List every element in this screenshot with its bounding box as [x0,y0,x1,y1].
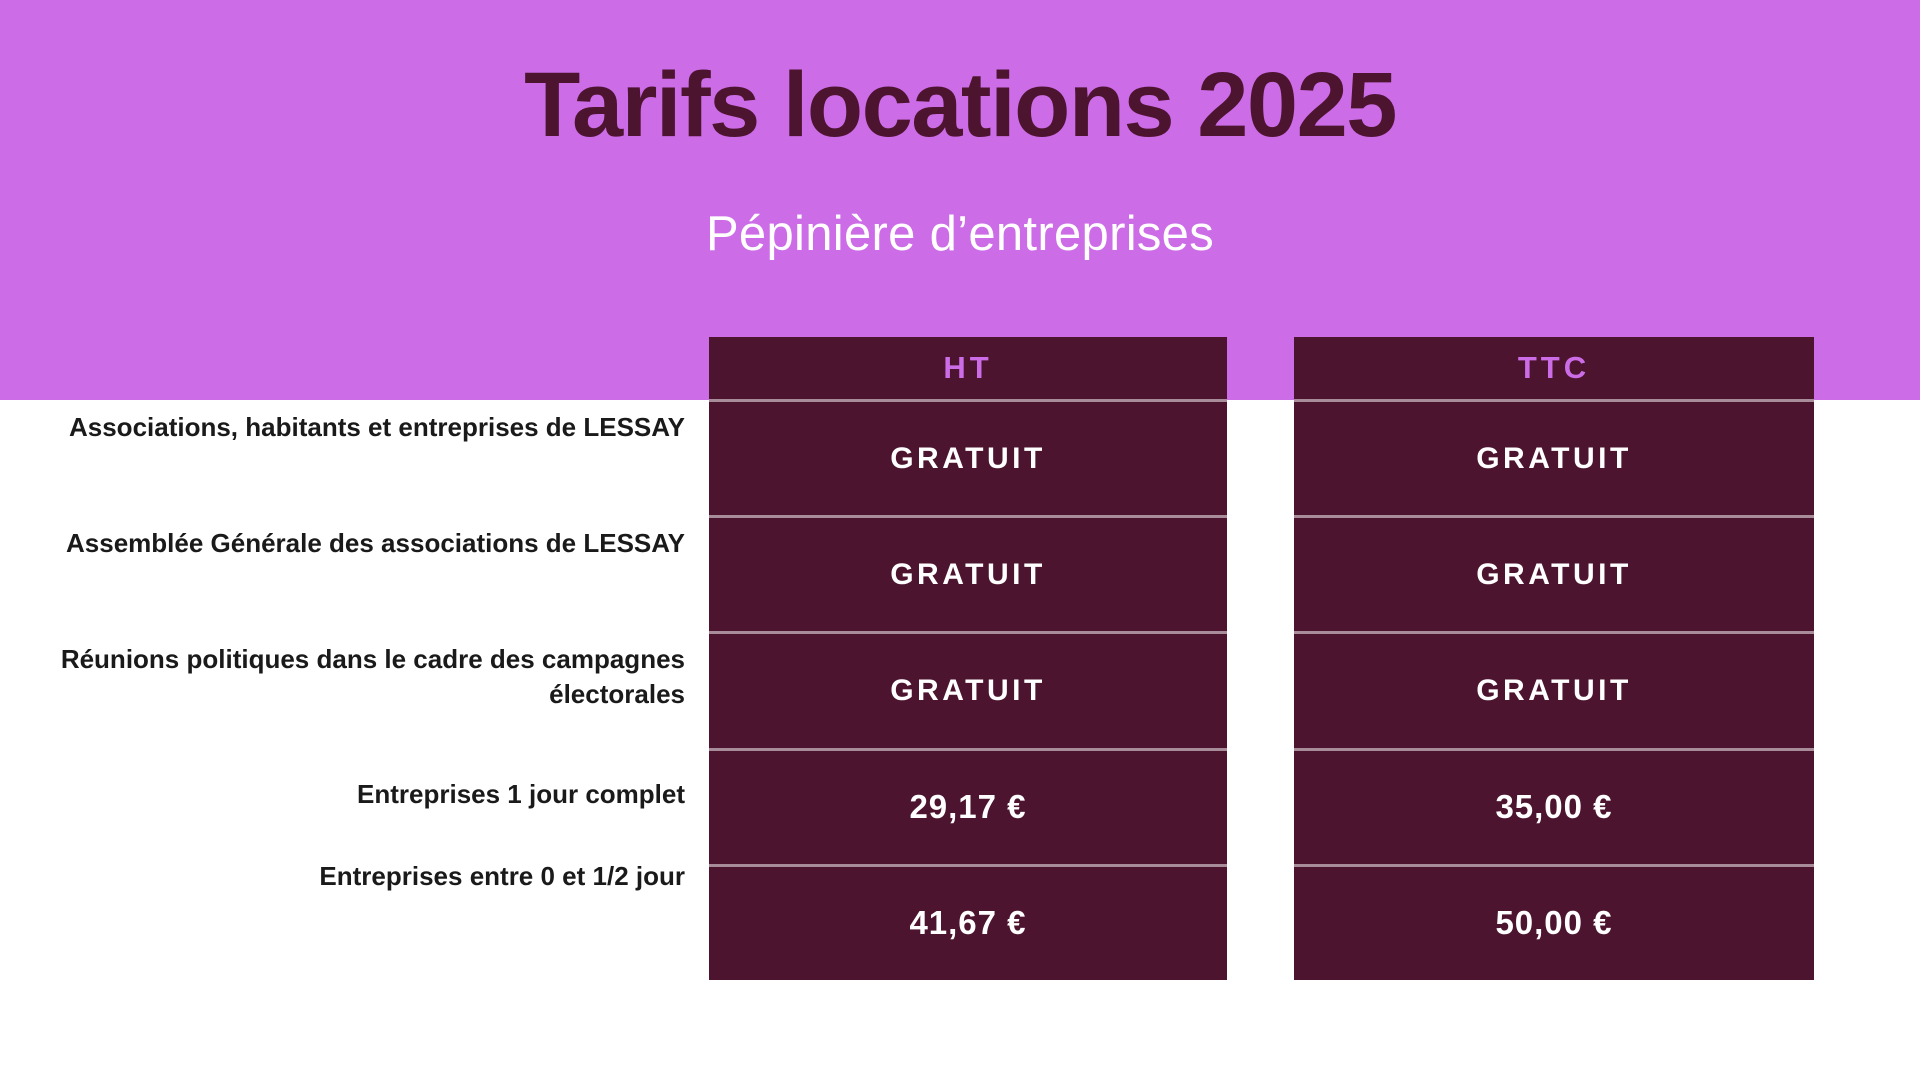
pricing-table: Associations, habitants et entreprises d… [0,337,1920,980]
column-header-ht-label: HT [709,337,1227,399]
page-subtitle: Pépinière d’entreprises [0,205,1920,264]
row-label-3: Entreprises 1 jour complet [30,777,685,812]
page-title: Tarifs locations 2025 [0,57,1920,154]
column-header-ttc-label: TTC [1294,337,1814,399]
cell-ht-3: 29,17 € [709,748,1227,864]
cell-ttc-1: GRATUIT [1294,515,1814,631]
column-body-ttc: GRATUIT GRATUIT GRATUIT 35,00 € 50,00 € [1294,399,1814,980]
row-label-2: Réunions politiques dans le cadre des ca… [30,642,685,712]
cell-ttc-0: GRATUIT [1294,399,1814,515]
cell-ht-2: GRATUIT [709,631,1227,747]
cell-ht-1: GRATUIT [709,515,1227,631]
cell-ttc-2: GRATUIT [1294,631,1814,747]
cell-ht-4: 41,67 € [709,864,1227,980]
column-header-ttc: TTC [1294,337,1814,399]
cell-ttc-4: 50,00 € [1294,864,1814,980]
row-label-4: Entreprises entre 0 et 1/2 jour [30,859,685,894]
column-body-ht: GRATUIT GRATUIT GRATUIT 29,17 € 41,67 € [709,399,1227,980]
cell-ttc-3: 35,00 € [1294,748,1814,864]
row-label-1: Assemblée Générale des associations de L… [30,526,685,561]
cell-ht-0: GRATUIT [709,399,1227,515]
row-label-0: Associations, habitants et entreprises d… [30,410,685,445]
column-header-ht: HT [709,337,1227,399]
